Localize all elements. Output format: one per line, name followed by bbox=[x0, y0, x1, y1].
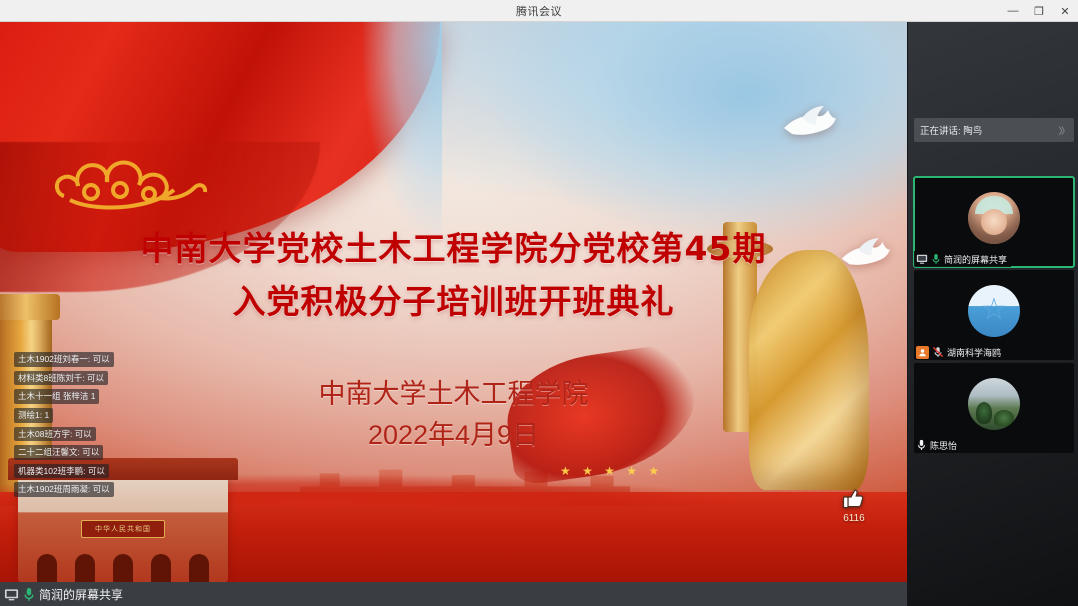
microphone-icon bbox=[23, 587, 35, 602]
participant-tile-bar: 陈思怡 bbox=[914, 437, 961, 453]
participant-tile[interactable]: ☆ 湖南科学海鸥 bbox=[914, 270, 1074, 360]
slide-title-line-2: 入党积极分子培训班开班典礼 bbox=[0, 275, 907, 328]
thumbs-up-icon bbox=[841, 486, 867, 512]
window-controls: — ❐ ✕ bbox=[1000, 0, 1078, 22]
participant-tile-bar: 湖南科学海鸥 bbox=[914, 344, 1005, 360]
window-title-bar: 腾讯会议 — ❐ ✕ bbox=[0, 0, 1078, 22]
chat-message: 土木08班方宇: 可以 bbox=[14, 427, 96, 442]
participant-name: 陈思怡 bbox=[930, 439, 957, 452]
slide-title-block: 中南大学党校土木工程学院分党校第45期 入党积极分子培训班开班典礼 bbox=[0, 222, 907, 329]
chat-message: 二十二组汪馨文: 可以 bbox=[14, 445, 103, 460]
chat-message-overlay: 土木1902班刘春一: 可以 材料类8班陈刘千: 可以 土木十一组 张梓洁 1 … bbox=[14, 352, 146, 497]
close-button[interactable]: ✕ bbox=[1052, 0, 1078, 22]
gate-arches bbox=[28, 548, 218, 582]
reaction-count: 6116 bbox=[841, 513, 867, 524]
host-badge-icon bbox=[916, 346, 929, 359]
active-speaker-chip[interactable]: 正在讲话: 陶鸟 〉〉 bbox=[914, 118, 1074, 142]
slide-title-line-1: 中南大学党校土木工程学院分党校第45期 bbox=[0, 222, 907, 275]
dove-icon bbox=[780, 102, 836, 142]
screen-share-icon bbox=[4, 587, 19, 602]
star-icon: ☆ bbox=[981, 295, 1008, 325]
chat-message: 机器类102班李鹏: 可以 bbox=[14, 464, 109, 479]
microphone-muted-icon bbox=[932, 346, 944, 358]
participant-name: 湖南科学海鸥 bbox=[947, 346, 1001, 359]
screen-share-icon bbox=[916, 253, 928, 265]
chat-message: 土木十一组 张梓洁 1 bbox=[14, 389, 99, 404]
chat-message: 土木1902班周雨凝: 可以 bbox=[14, 482, 114, 497]
minimize-button[interactable]: — bbox=[1000, 0, 1026, 22]
chat-message: 材料类8班陈刘千: 可以 bbox=[14, 371, 108, 386]
microphone-icon bbox=[916, 439, 927, 451]
window-title: 腾讯会议 bbox=[516, 3, 562, 19]
participant-tile[interactable]: 陈思怡 bbox=[914, 363, 1074, 453]
participant-tile-bar: 简润的屏幕共享 bbox=[914, 251, 1011, 267]
reaction-overlay: 6116 bbox=[841, 486, 867, 524]
share-status-bar: 简润的屏幕共享 bbox=[0, 582, 907, 606]
maximize-button[interactable]: ❐ bbox=[1026, 0, 1052, 22]
avatar bbox=[968, 192, 1020, 244]
auspicious-cloud-icon bbox=[46, 134, 226, 218]
tencent-meeting-window: 腾讯会议 — ❐ ✕ bbox=[0, 0, 1078, 606]
share-status-label: 简润的屏幕共享 bbox=[39, 586, 123, 603]
chat-message: 土木1902班刘春一: 可以 bbox=[14, 352, 114, 367]
active-speaker-label: 正在讲话: 陶鸟 bbox=[920, 123, 982, 137]
gate-plaque: 中华人民共和国 bbox=[81, 520, 165, 538]
chat-message: 测绘1: 1 bbox=[14, 408, 53, 423]
microphone-icon bbox=[931, 253, 941, 265]
participant-tile[interactable]: 简润的屏幕共享 bbox=[914, 177, 1074, 267]
shared-screen-stage[interactable]: ★ ★ ★ ★ ★ 中华人民共和国 中南大学党校土木工程学院分党校第45期 入党… bbox=[0, 22, 907, 582]
chevron-right-icon[interactable]: 〉〉 bbox=[1058, 124, 1068, 137]
participant-name: 简润的屏幕共享 bbox=[944, 253, 1007, 266]
avatar: ☆ bbox=[968, 285, 1020, 337]
avatar bbox=[968, 378, 1020, 430]
participant-rail: 正在讲话: 陶鸟 〉〉 bbox=[907, 22, 1078, 606]
